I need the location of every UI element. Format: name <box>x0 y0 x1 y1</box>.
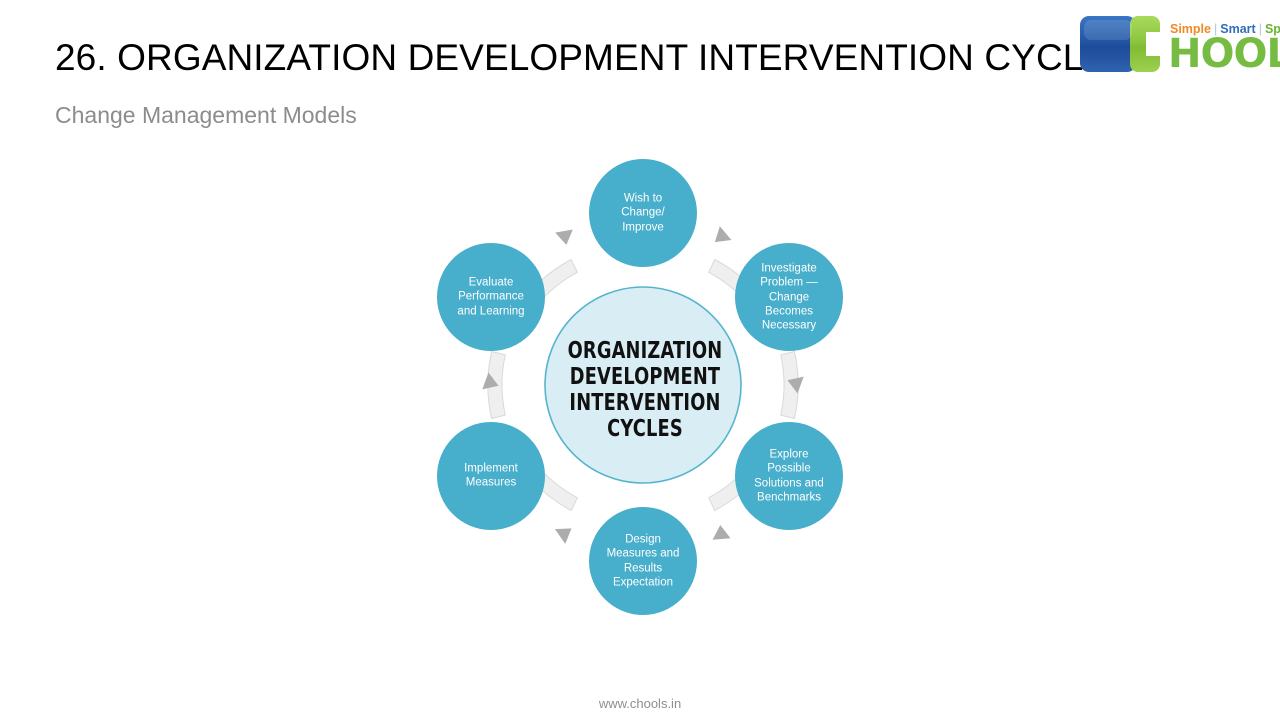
brand-logo: Simple|Smart|Speed HOOLS <box>1070 8 1270 80</box>
footer-url[interactable]: www.chools.in <box>0 696 1280 711</box>
arrowhead-bottom-left <box>555 521 577 544</box>
logo-wordmark: HOOLS <box>1168 34 1280 74</box>
cycle-node-design-measures[interactable]: Design Measures and Results Expectation <box>589 507 697 615</box>
node-circle <box>437 422 545 530</box>
page-title: 26. ORGANIZATION DEVELOPMENT INTERVENTIO… <box>55 38 1108 79</box>
arrowhead-bottom-right <box>711 524 730 540</box>
center-hub-line-4: CYCLES <box>563 416 726 442</box>
cycle-node-implement-measures[interactable]: Implement Measures <box>437 422 545 530</box>
node-circle <box>589 159 697 267</box>
node-circle <box>589 507 697 615</box>
cycle-node-evaluate-performance[interactable]: Evaluate Performance and Learning <box>437 243 545 351</box>
center-hub-label: ORGANIZATION DEVELOPMENT INTERVENTION CY… <box>550 338 740 442</box>
node-circle <box>437 243 545 351</box>
cycle-node-wish-to-change[interactable]: Wish to Change/ Improve <box>589 159 697 267</box>
center-hub-line-2: DEVELOPMENT <box>563 364 726 390</box>
chools-logo-icon <box>1078 12 1170 76</box>
center-hub-line-3: INTERVENTION <box>563 390 726 416</box>
cycle-node-explore-solutions[interactable]: Explore Possible Solutions and Benchmark… <box>735 422 843 530</box>
arrowhead-top-left <box>555 230 575 247</box>
node-circle <box>735 422 843 530</box>
organization-development-intervention-cycle-diagram: ORGANIZATION DEVELOPMENT INTERVENTION CY… <box>415 145 875 635</box>
center-hub-line-1: ORGANIZATION <box>563 338 726 364</box>
node-circle <box>735 243 843 351</box>
cycle-node-investigate-problem[interactable]: Investigate Problem — Change Becomes Nec… <box>735 243 843 351</box>
arrowhead-top-right <box>709 226 731 249</box>
page-subtitle: Change Management Models <box>55 102 357 130</box>
